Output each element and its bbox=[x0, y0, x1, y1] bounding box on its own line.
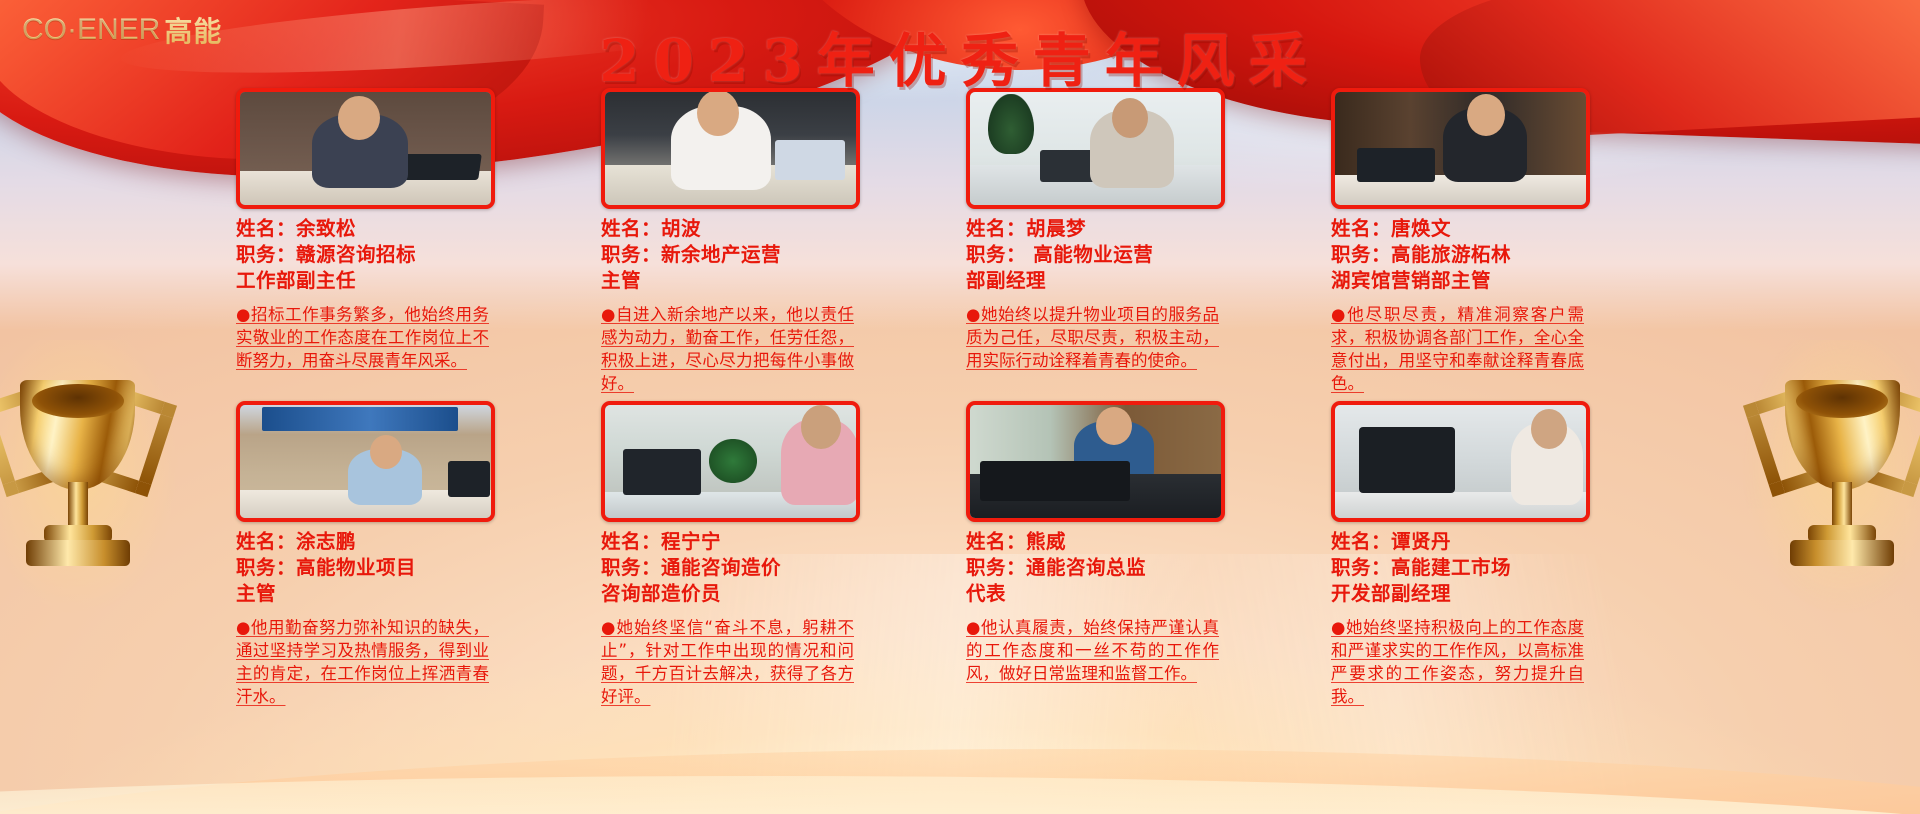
profile-description-5: ●他用勤奋努力弥补知识的缺失，通过坚持学习及热情服务，得到业主的肯定，在工作岗位… bbox=[236, 616, 489, 708]
profile-photo-7 bbox=[966, 401, 1225, 522]
profile-card-6: 姓名：程宁宁 职务：通能咨询造价 咨询部造价员 ●她始终坚信“奋斗不息，躬耕不止… bbox=[601, 401, 906, 708]
logo-chinese-text: 高能 bbox=[164, 10, 222, 50]
page-title: 2023年优秀青年风采 bbox=[0, 14, 1920, 98]
profile-card-2: 姓名：胡波 职务：新余地产运营 主管 ●自进入新余地产以来，他以责任感为动力，勤… bbox=[601, 88, 906, 395]
profile-photo-2 bbox=[601, 88, 860, 209]
profile-name-5: 姓名：涂志鹏 职务：高能物业项目 主管 bbox=[236, 529, 541, 607]
profile-photo-4 bbox=[1331, 88, 1590, 209]
profile-photo-3 bbox=[966, 88, 1225, 209]
poster-canvas: CO·ENER 高能 2023年优秀青年风采 姓名：余致松 职务：赣源咨询招标 … bbox=[0, 0, 1920, 814]
profile-description-8: ●她始终坚持积极向上的工作态度和严谨求实的工作作风，以高标准严要求的工作姿态，努… bbox=[1331, 616, 1584, 708]
company-logo: CO·ENER 高能 bbox=[22, 10, 222, 50]
profile-row-top: 姓名：余致松 职务：赣源咨询招标 工作部副主任 ●招标工作事务繁多，他始终用务实… bbox=[0, 88, 1920, 395]
profile-description-2: ●自进入新余地产以来，他以责任感为动力，勤奋工作，任劳任怨，积极上进，尽心尽力把… bbox=[601, 303, 854, 395]
profile-card-8: 姓名：谭贤丹 职务：高能建工市场 开发部副经理 ●她始终坚持积极向上的工作态度和… bbox=[1331, 401, 1636, 708]
logo-latin-text: CO·ENER bbox=[22, 13, 160, 47]
profile-name-7: 姓名：熊威 职务：通能咨询总监 代表 bbox=[966, 529, 1271, 607]
profile-row-bottom: 姓名：涂志鹏 职务：高能物业项目 主管 ●他用勤奋努力弥补知识的缺失，通过坚持学… bbox=[0, 401, 1920, 708]
profile-name-2: 姓名：胡波 职务：新余地产运营 主管 bbox=[601, 216, 906, 294]
profile-name-6: 姓名：程宁宁 职务：通能咨询造价 咨询部造价员 bbox=[601, 529, 906, 607]
profile-card-4: 姓名：唐焕文 职务：高能旅游柘林 湖宾馆营销部主管 ●他尽职尽责，精准洞察客户需… bbox=[1331, 88, 1636, 395]
profile-card-3: 姓名：胡晨梦 职务： 高能物业运营 部副经理 ●她始终以提升物业项目的服务品质为… bbox=[966, 88, 1271, 395]
wave-shape-2 bbox=[0, 694, 1920, 814]
profile-description-3: ●她始终以提升物业项目的服务品质为己任，尽职尽责，积极主动，用实际行动诠释着青春… bbox=[966, 303, 1219, 372]
profile-photo-8 bbox=[1331, 401, 1590, 522]
profile-name-8: 姓名：谭贤丹 职务：高能建工市场 开发部副经理 bbox=[1331, 529, 1636, 607]
profile-card-5: 姓名：涂志鹏 职务：高能物业项目 主管 ●他用勤奋努力弥补知识的缺失，通过坚持学… bbox=[236, 401, 541, 708]
profile-card-7: 姓名：熊威 职务：通能咨询总监 代表 ●他认真履责，始终保持严谨认真的工作态度和… bbox=[966, 401, 1271, 708]
profile-name-1: 姓名：余致松 职务：赣源咨询招标 工作部副主任 bbox=[236, 216, 541, 294]
profile-card-1: 姓名：余致松 职务：赣源咨询招标 工作部副主任 ●招标工作事务繁多，他始终用务实… bbox=[236, 88, 541, 395]
profile-photo-6 bbox=[601, 401, 860, 522]
profile-description-7: ●他认真履责，始终保持严谨认真的工作态度和一丝不苟的工作作风，做好日常监理和监督… bbox=[966, 616, 1219, 685]
profile-grid: 姓名：余致松 职务：赣源咨询招标 工作部副主任 ●招标工作事务繁多，他始终用务实… bbox=[0, 88, 1920, 708]
profile-name-3: 姓名：胡晨梦 职务： 高能物业运营 部副经理 bbox=[966, 216, 1271, 294]
profile-description-6: ●她始终坚信“奋斗不息，躬耕不止”，针对工作中出现的情况和问题，千方百计去解决，… bbox=[601, 616, 854, 708]
profile-description-1: ●招标工作事务繁多，他始终用务实敬业的工作态度在工作岗位上不断努力，用奋斗尽展青… bbox=[236, 303, 489, 372]
profile-description-4: ●他尽职尽责，精准洞察客户需求，积极协调各部门工作，全心全意付出，用坚守和奉献诠… bbox=[1331, 303, 1584, 395]
profile-name-4: 姓名：唐焕文 职务：高能旅游柘林 湖宾馆营销部主管 bbox=[1331, 216, 1636, 294]
profile-photo-1 bbox=[236, 88, 495, 209]
profile-photo-5 bbox=[236, 401, 495, 522]
